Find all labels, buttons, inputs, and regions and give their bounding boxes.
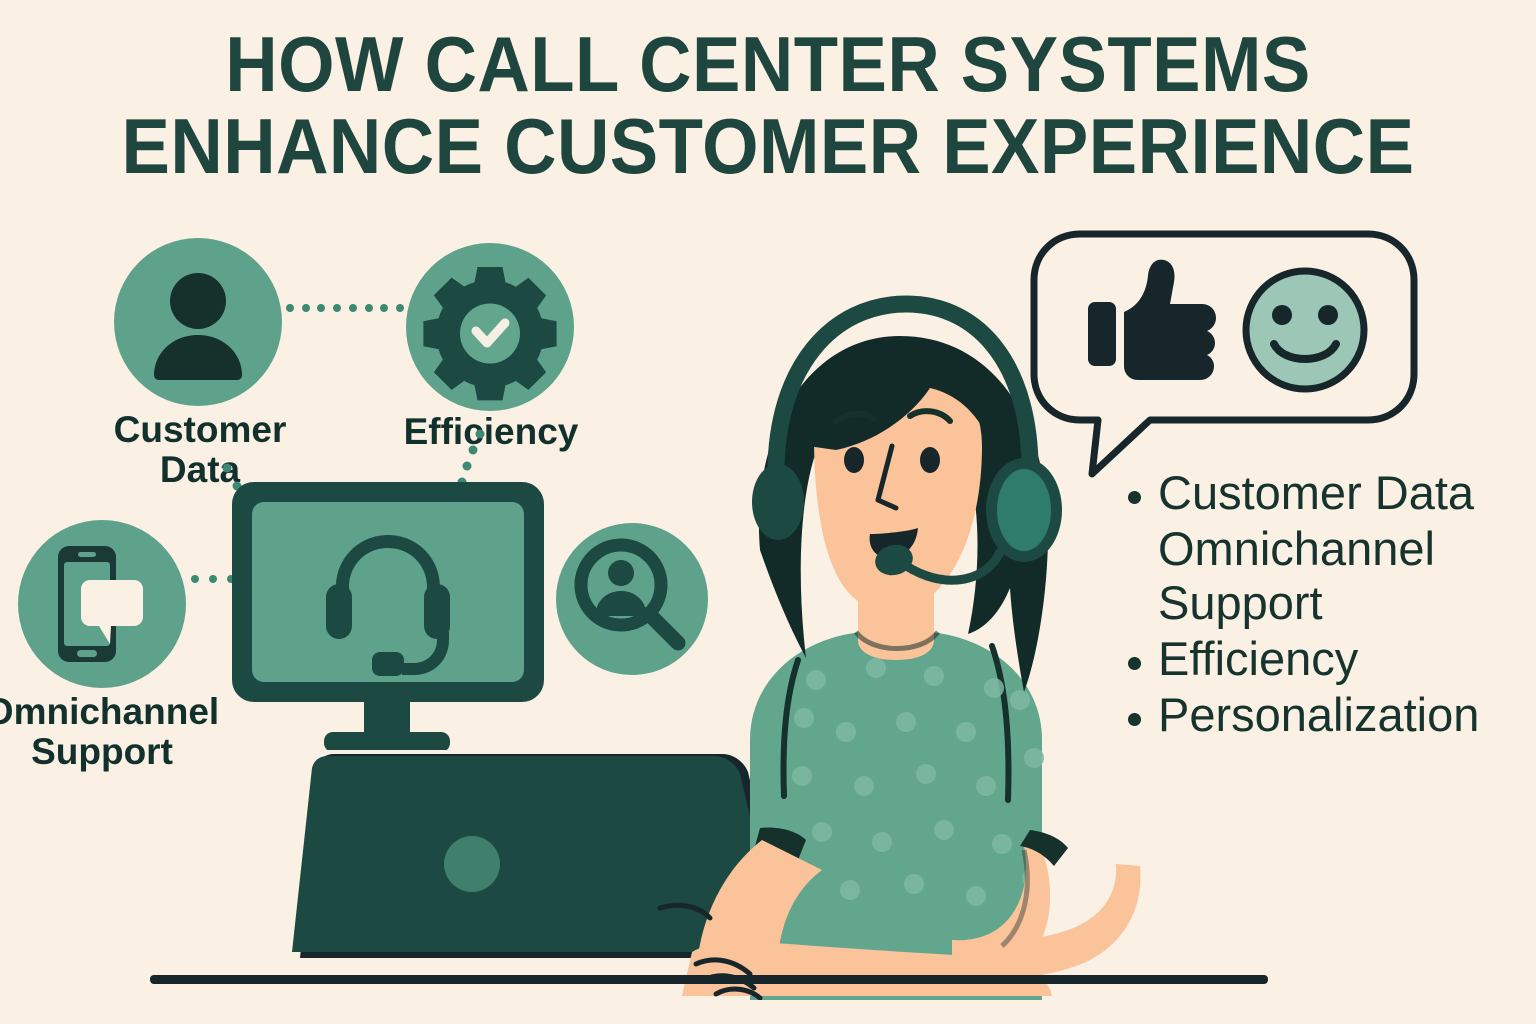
gear-check-icon [406,243,574,411]
feature-icon-omnichannel-support[interactable] [18,520,186,688]
infographic-canvas: How Call Center Systems Enhance Customer… [0,0,1536,1024]
speech-bubble [1020,222,1430,482]
title-line-2: Enhance Customer Experience [54,108,1482,184]
person-icon [114,238,282,406]
feature-label-omnichannel-support: Omnichannel Support [0,692,222,772]
list-item[interactable]: Omnichannel Support [1128,522,1536,630]
title-line-1: How Call Center Systems [54,26,1482,102]
agent-eye-right [920,447,940,473]
bullet-marker-icon [1128,713,1141,726]
desktop-monitor [230,480,560,750]
connector-dots-customer-to-efficiency [286,303,404,313]
list-item[interactable]: Customer Data [1128,466,1536,520]
list-item[interactable]: Efficiency [1128,632,1536,686]
desk-surface-line [150,975,1268,984]
benefits-list: Customer Data Omnichannel Support Effici… [1128,466,1536,744]
list-item-label: Efficiency [1158,632,1358,686]
feature-label-customer-data: Customer Data [70,410,330,490]
list-item-label: Personalization [1158,688,1479,742]
feature-icon-customer-data[interactable] [114,238,282,406]
feature-icon-efficiency[interactable] [406,243,574,411]
list-item-label: Omnichannel Support [1158,522,1435,630]
agent-eye-left [844,447,864,473]
bullet-marker-icon [1128,491,1141,504]
smiley-face-icon [1246,271,1364,389]
list-item-label: Customer Data [1158,466,1474,520]
page-title: How Call Center Systems Enhance Customer… [0,26,1536,185]
list-item[interactable]: Personalization [1128,688,1536,742]
laptop-logo-circle [444,836,500,892]
thumbs-up-icon [1088,260,1216,380]
bullet-marker-icon [1128,657,1141,670]
bullet-marker-icon [1128,547,1141,560]
phone-chat-icon [18,520,186,688]
